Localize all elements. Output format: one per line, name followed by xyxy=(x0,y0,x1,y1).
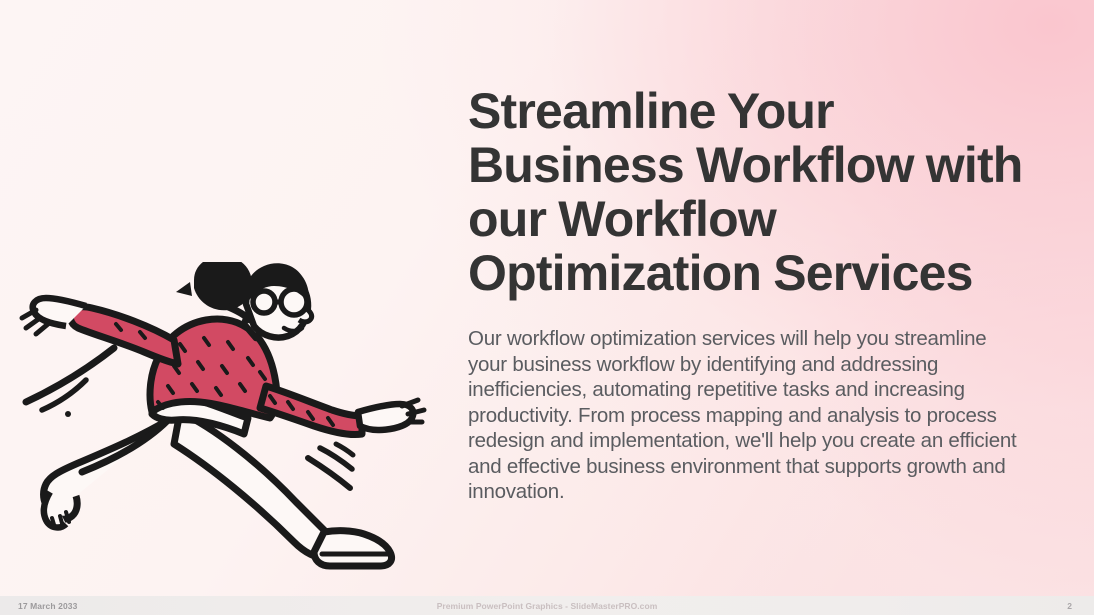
hair-bun xyxy=(194,262,252,310)
slide-canvas: Streamline Your Business Workflow with o… xyxy=(0,0,1094,615)
leg-back xyxy=(44,420,168,528)
speed-lines-right xyxy=(308,444,353,488)
page-title: Streamline Your Business Workflow with o… xyxy=(468,84,1028,300)
running-person-illustration xyxy=(8,262,448,584)
footer-page-number: 2 xyxy=(1067,601,1072,611)
footer-bar: 17 March 2033 Premium PowerPoint Graphic… xyxy=(0,596,1094,615)
footer-credit: Premium PowerPoint Graphics - SlideMaste… xyxy=(0,601,1094,611)
speed-lines-left xyxy=(26,348,114,417)
body-paragraph: Our workflow optimization services will … xyxy=(468,300,1028,505)
text-column: Streamline Your Business Workflow with o… xyxy=(468,84,1028,505)
